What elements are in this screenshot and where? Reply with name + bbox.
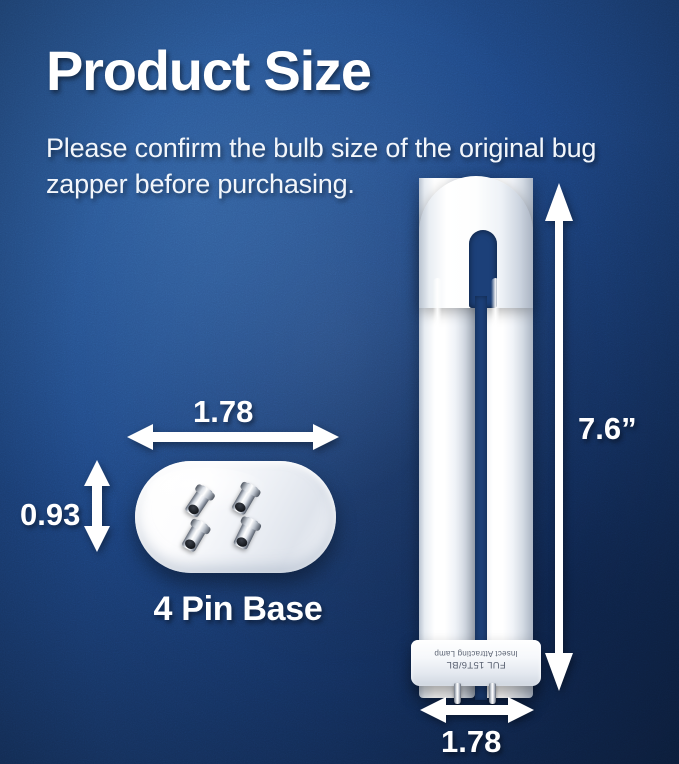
double-arrow-vertical-icon (545, 183, 573, 691)
bulb-label-text: FUL 15T6/BL Insect Attracting Lamp (411, 648, 541, 670)
bulb-width-label: 1.78 (441, 724, 501, 760)
vignette-overlay (0, 0, 679, 764)
pin-base-illustration (135, 461, 336, 573)
bulb-height-label: 7.6” (578, 411, 637, 447)
product-size-infographic: Product Size Please confirm the bulb siz… (0, 0, 679, 764)
bulb-illustration: FUL 15T6/BL Insect Attracting Lamp (409, 178, 543, 698)
double-arrow-vertical-icon (84, 460, 110, 552)
bulb-description-label: Insect Attracting Lamp (411, 648, 541, 659)
bulb-base-cap: FUL 15T6/BL Insect Attracting Lamp (411, 640, 541, 686)
double-arrow-horizontal-icon (420, 697, 534, 723)
background-texture (0, 0, 679, 764)
base-caption: 4 Pin Base (128, 590, 348, 629)
base-width-label: 1.78 (193, 394, 253, 430)
bulb-model-label: FUL 15T6/BL (411, 659, 541, 670)
base-height-label: 0.93 (20, 497, 80, 533)
pin-base-oval (135, 461, 336, 573)
page-title: Product Size (46, 38, 371, 103)
